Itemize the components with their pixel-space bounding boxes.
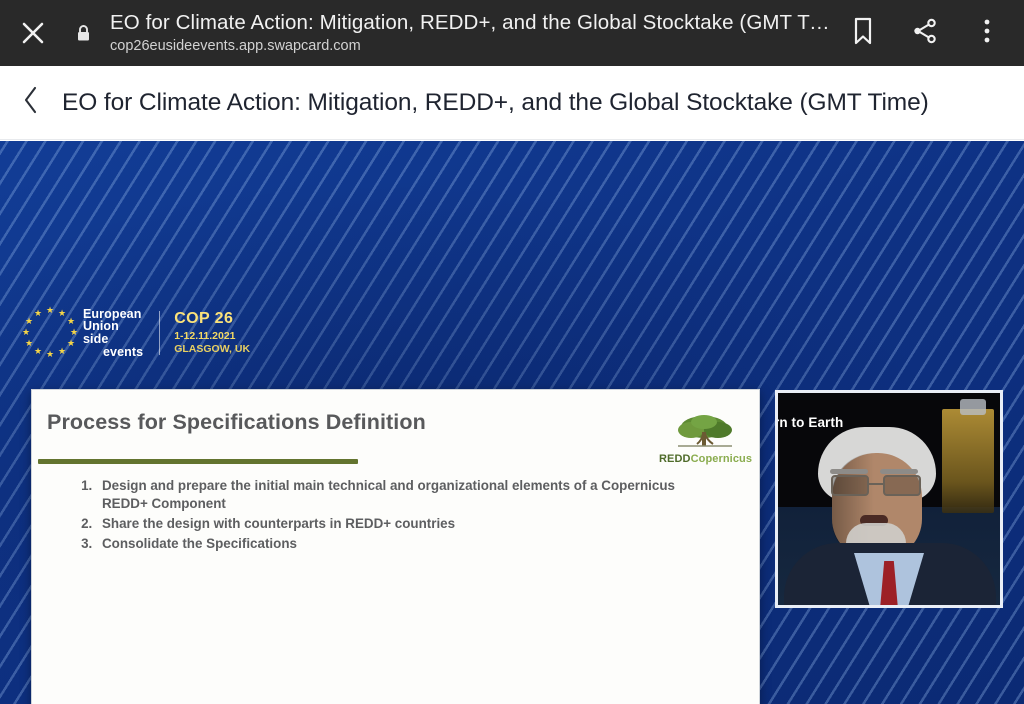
speaker-eyebrow-left (830, 469, 868, 474)
page-url: cop26eusideevents.app.swapcard.com (110, 37, 830, 56)
cop26-dates: 1-12.11.2021 (174, 330, 250, 343)
logo-divider (159, 311, 160, 355)
bookmark-icon (852, 17, 874, 50)
cop26-location: GLASGOW, UK (174, 343, 250, 356)
slide-title: Process for Specifications Definition (47, 410, 426, 435)
chevron-left-icon (22, 85, 40, 120)
share-button[interactable] (894, 0, 956, 66)
shared-slide: Process for Specifications Definition RE… (31, 389, 760, 704)
close-icon (20, 20, 46, 46)
speaker-video-frame: rn to Earth (778, 393, 1000, 605)
slide-bullet-list: Design and prepare the initial main tech… (78, 477, 718, 556)
list-item: Design and prepare the initial main tech… (96, 477, 718, 513)
speaker-torso (784, 543, 996, 605)
speaker-video-tile[interactable]: rn to Earth (775, 390, 1003, 608)
video-background-object-top (960, 399, 986, 415)
video-background-object (942, 409, 994, 513)
app-bar: EO for Climate Action: Mitigation, REDD+… (0, 66, 1024, 140)
close-button[interactable] (0, 0, 66, 66)
eu-cop26-logo: ★ ★ ★ ★ ★ ★ ★ ★ ★ ★ ★ ★ European Union s… (18, 304, 250, 362)
tree-icon (659, 412, 751, 452)
lock-icon (66, 0, 100, 66)
header-actions (832, 0, 1024, 66)
redd-copernicus-logo: REDDCopernicus (659, 412, 751, 465)
cop26-title: COP 26 (174, 310, 250, 327)
video-overlay-caption: rn to Earth (775, 415, 843, 430)
page-identity[interactable]: EO for Climate Action: Mitigation, REDD+… (100, 0, 832, 66)
speaker-eyebrow-right (880, 469, 918, 474)
eu-side-events-wordmark: European Union side events (80, 308, 143, 358)
share-icon (912, 18, 938, 49)
list-item: Consolidate the Specifications (96, 535, 718, 553)
more-vertical-icon (983, 18, 991, 49)
eu-stars-icon: ★ ★ ★ ★ ★ ★ ★ ★ ★ ★ ★ ★ (18, 306, 80, 360)
slide-title-underline (38, 459, 358, 464)
list-item: Share the design with counterparts in RE… (96, 515, 718, 533)
redd-copernicus-wordmark: REDDCopernicus (659, 453, 751, 465)
browser-header: EO for Climate Action: Mitigation, REDD+… (0, 0, 1024, 66)
eu-word-events: events (83, 346, 143, 359)
redd-word: REDD (659, 453, 691, 465)
overflow-menu-button[interactable] (956, 0, 1018, 66)
glasses-icon (827, 475, 927, 496)
cop26-block: COP 26 1-12.11.2021 GLASGOW, UK (174, 310, 250, 356)
session-title: EO for Climate Action: Mitigation, REDD+… (62, 88, 943, 118)
bookmark-button[interactable] (832, 0, 894, 66)
presentation-stage[interactable]: ★ ★ ★ ★ ★ ★ ★ ★ ★ ★ ★ ★ European Union s… (0, 141, 1024, 704)
back-button[interactable] (0, 66, 62, 140)
copernicus-word: Copernicus (691, 453, 753, 465)
eu-word-side: side (83, 332, 108, 346)
page-title: EO for Climate Action: Mitigation, REDD+… (110, 10, 830, 35)
